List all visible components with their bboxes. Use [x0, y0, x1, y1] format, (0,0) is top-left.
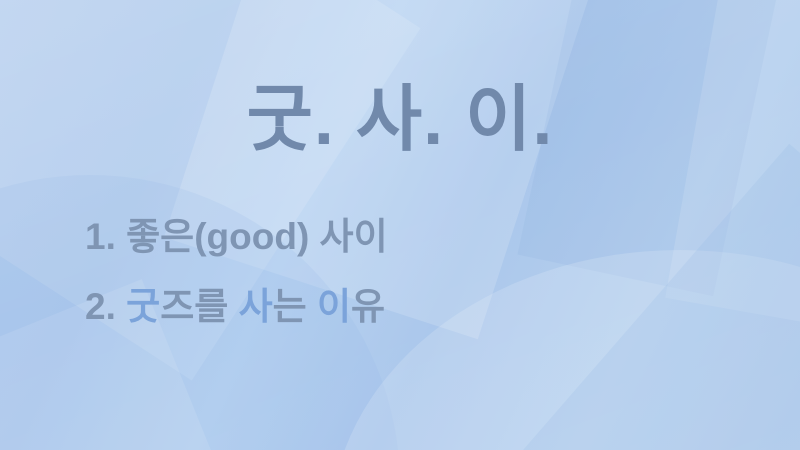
bullet-text-1: 좋은(good) 사이 [126, 216, 388, 257]
slide-content: 굿. 사. 이. 1. 좋은(good) 사이 2. 굿즈를 사는 이유 [0, 0, 800, 450]
slide-title: 굿. 사. 이. [0, 84, 800, 156]
bullet-text-2-segment-2: 즈를 [160, 286, 238, 327]
bullet-list: 1. 좋은(good) 사이 2. 굿즈를 사는 이유 [85, 218, 745, 358]
bullet-text-2-segment-3: 사 [239, 286, 273, 327]
bullet-text-2-segment-1: 굿 [126, 286, 160, 327]
bullet-item-2: 2. 굿즈를 사는 이유 [85, 288, 745, 325]
bullet-text-2-segment-5: 이 [317, 286, 351, 327]
bullet-number-2: 2. [85, 286, 116, 327]
bullet-item-1: 1. 좋은(good) 사이 [85, 218, 745, 255]
bullet-number-1: 1. [85, 216, 116, 257]
bullet-text-2-segment-4: 는 [273, 286, 317, 327]
bullet-text-2-segment-6: 유 [351, 286, 385, 327]
presentation-slide: 굿. 사. 이. 1. 좋은(good) 사이 2. 굿즈를 사는 이유 [0, 0, 800, 450]
